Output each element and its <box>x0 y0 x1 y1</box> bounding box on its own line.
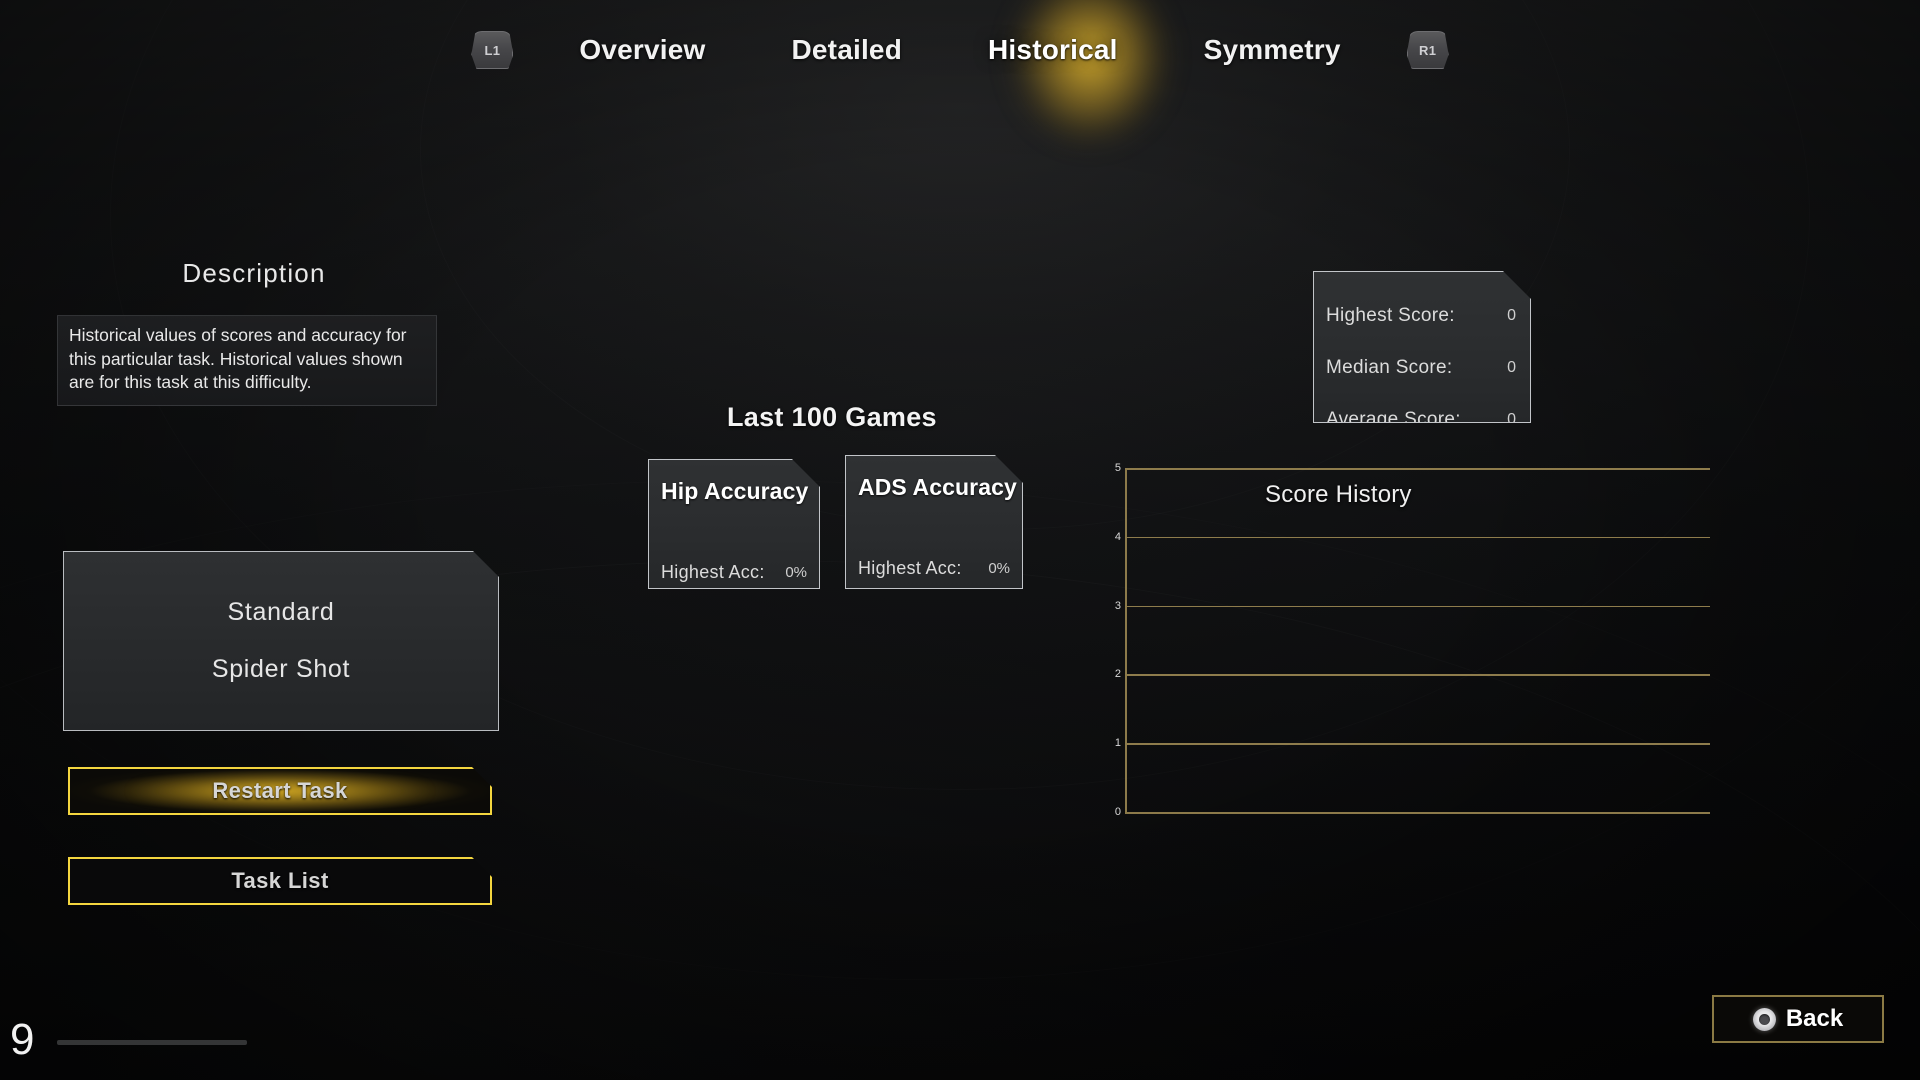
stat-value: 0 <box>1507 359 1516 377</box>
score-summary-rows: Highest Score: 0 Median Score: 0 Average… <box>1314 290 1530 423</box>
page-progress-bar[interactable] <box>57 1040 247 1045</box>
stat-key: Highest Score: <box>1326 305 1455 327</box>
chart-gridline <box>1125 606 1710 608</box>
tab-detailed[interactable]: Detailed <box>787 28 906 72</box>
stat-value: 0 <box>1507 411 1516 423</box>
score-history-chart: 543210 <box>1125 468 1725 822</box>
stat-row: Highest Score: 0 <box>1314 290 1530 342</box>
chart-gridline <box>1125 468 1710 470</box>
description-heading: Description <box>64 258 444 289</box>
chart-y-tick-label: 1 <box>1097 737 1121 749</box>
stat-key: Highest Acc: <box>661 562 765 583</box>
r1-label: R1 <box>1419 43 1436 58</box>
tab-historical[interactable]: Historical <box>984 28 1122 72</box>
stat-value: 0 <box>1507 307 1516 325</box>
back-button-label: Back <box>1786 1005 1843 1033</box>
task-difficulty: Standard <box>227 598 334 627</box>
chart-gridline <box>1125 674 1710 676</box>
restart-task-button[interactable]: Restart Task <box>68 767 492 815</box>
r1-shoulder-button-icon[interactable]: R1 <box>1407 31 1449 69</box>
score-summary-card: Highest Score: 0 Median Score: 0 Average… <box>1313 271 1531 423</box>
chart-gridline <box>1125 743 1710 745</box>
chart-y-tick-label: 4 <box>1097 531 1121 543</box>
last-100-games-heading: Last 100 Games <box>727 402 937 433</box>
active-tab-glow <box>1000 0 1180 172</box>
task-list-label: Task List <box>231 868 328 894</box>
stat-row: Highest Acc: 0% <box>649 545 819 589</box>
stat-row: Average Score: 0 <box>1314 394 1530 423</box>
tab-overview[interactable]: Overview <box>575 28 709 72</box>
restart-task-label: Restart Task <box>212 778 347 804</box>
hip-accuracy-card: Hip Accuracy Highest Acc: 0% Median Acc:… <box>648 459 820 589</box>
ads-accuracy-title: ADS Accuracy <box>846 468 1022 501</box>
stat-value: 0% <box>988 560 1010 577</box>
ads-accuracy-card: ADS Accuracy Highest Acc: 0% Median Acc:… <box>845 455 1023 589</box>
page-number: 9 <box>10 1018 34 1062</box>
stat-key: Median Score: <box>1326 357 1452 379</box>
task-list-button[interactable]: Task List <box>68 857 492 905</box>
description-box: Historical values of scores and accuracy… <box>57 315 437 406</box>
stat-value: 0% <box>785 564 807 581</box>
stat-key: Average Score: <box>1326 409 1461 423</box>
hip-accuracy-title: Hip Accuracy <box>649 472 819 505</box>
task-name: Spider Shot <box>212 655 350 684</box>
l1-shoulder-button-icon[interactable]: L1 <box>471 31 513 69</box>
description-text: Historical values of scores and accuracy… <box>69 324 425 395</box>
l1-label: L1 <box>484 43 500 58</box>
circle-button-icon <box>1753 1008 1776 1031</box>
chart-y-axis <box>1125 468 1127 812</box>
chart-gridline <box>1125 537 1710 539</box>
back-button[interactable]: Back <box>1712 995 1884 1043</box>
hip-accuracy-rows: Highest Acc: 0% Median Acc: 0% Average A… <box>649 545 819 589</box>
app-root: L1 Overview Detailed Historical Symmetry… <box>0 0 1920 1080</box>
stat-key: Highest Acc: <box>858 558 962 579</box>
chart-y-tick-label: 3 <box>1097 600 1121 612</box>
stat-row: Median Score: 0 <box>1314 342 1530 394</box>
chart-gridline <box>1125 812 1710 814</box>
chart-y-tick-label: 5 <box>1097 462 1121 474</box>
chart-y-tick-label: 2 <box>1097 668 1121 680</box>
task-info-card: Standard Spider Shot <box>63 551 499 731</box>
tab-symmetry[interactable]: Symmetry <box>1200 28 1345 72</box>
top-navigation: L1 Overview Detailed Historical Symmetry… <box>0 0 1920 100</box>
ads-accuracy-rows: Highest Acc: 0% Median Acc: 0% Average A… <box>846 541 1022 589</box>
stat-row: Highest Acc: 0% <box>846 541 1022 589</box>
chart-y-tick-label: 0 <box>1097 806 1121 818</box>
